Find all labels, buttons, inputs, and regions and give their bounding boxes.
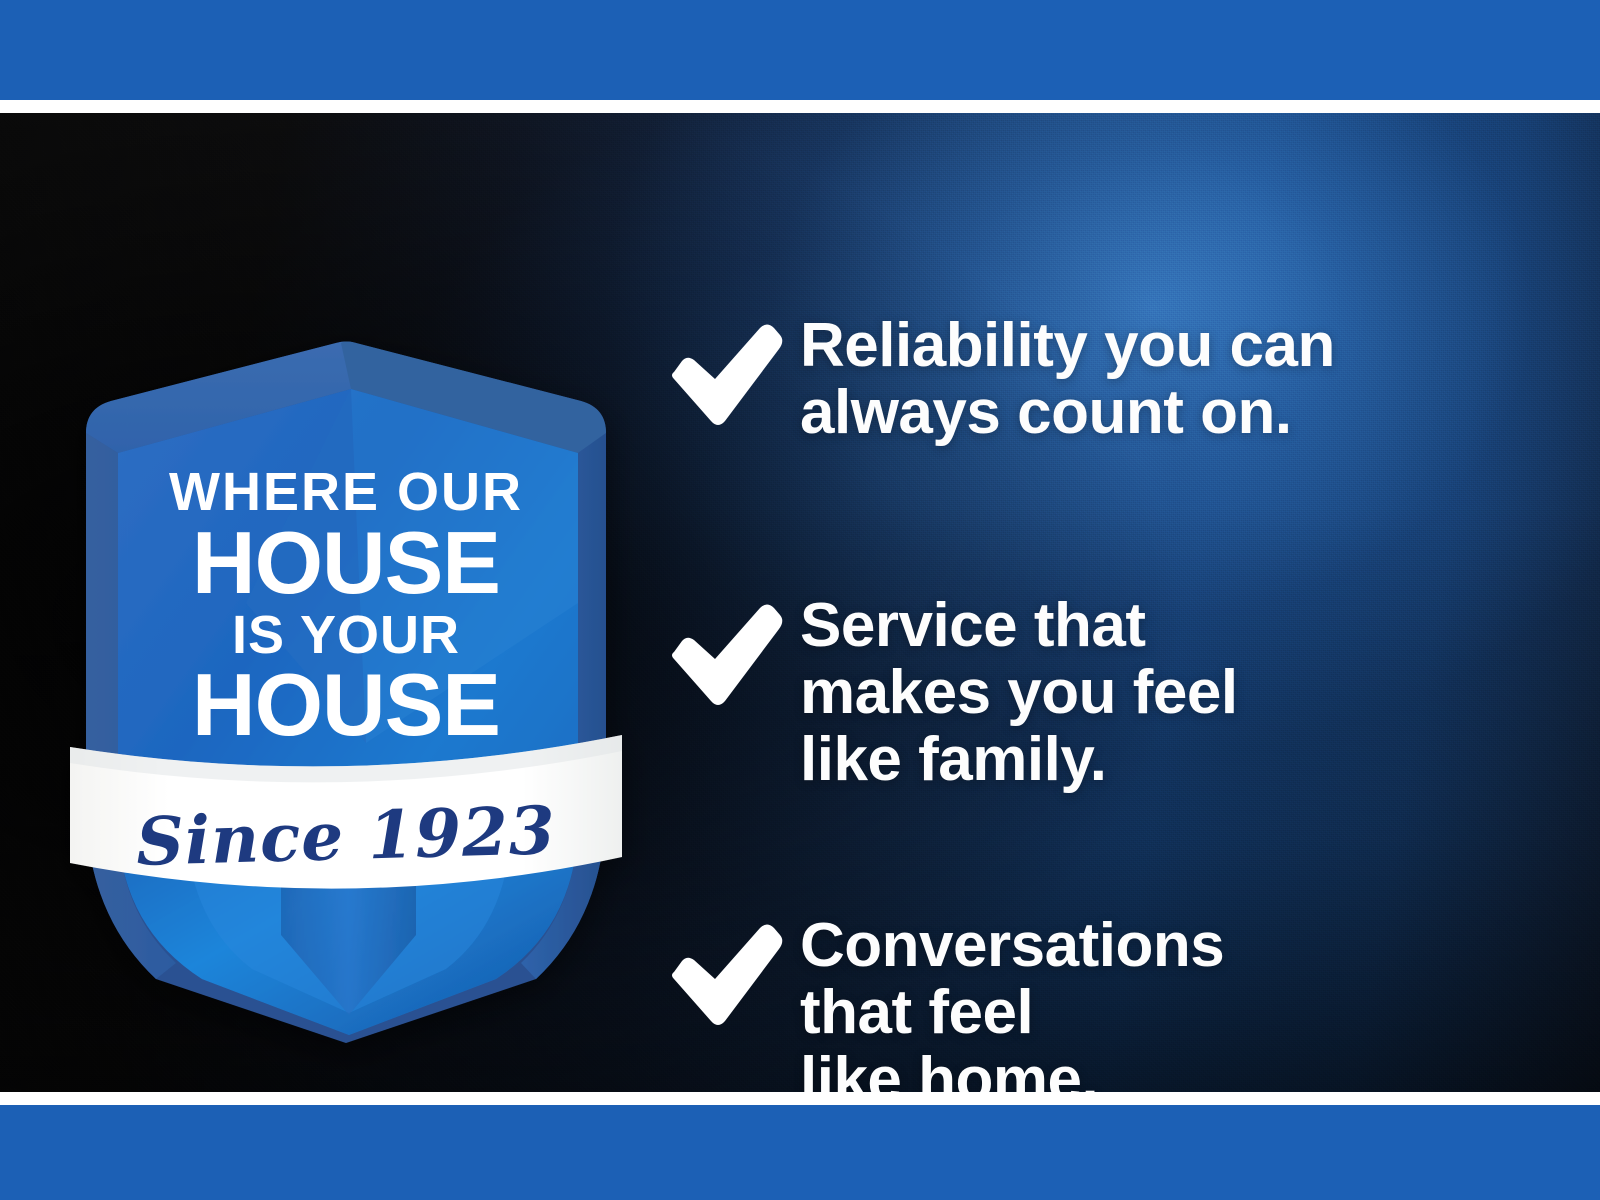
benefit-item-reliability: Reliability you can always count on. [668, 313, 1335, 447]
top-accent-bar [0, 0, 1600, 100]
benefit-text-conversations: Conversations that feel like home. [800, 913, 1224, 1092]
shield-badge: WHERE OUR HOUSE IS YOUR HOUSE Since 1923 [66, 273, 626, 1043]
bottom-accent-bar [0, 1105, 1600, 1200]
benefit-text-service: Service that makes you feel like family. [800, 593, 1238, 794]
promo-graphic: WHERE OUR HOUSE IS YOUR HOUSE Since 1923… [0, 0, 1600, 1200]
bottom-divider-stripe [0, 1092, 1600, 1105]
checkmark-icon [668, 923, 800, 1027]
checkmark-icon [668, 323, 800, 427]
benefit-item-conversations: Conversations that feel like home. [668, 913, 1224, 1092]
checkmark-icon [668, 603, 800, 707]
benefit-text-reliability: Reliability you can always count on. [800, 313, 1335, 447]
main-panel: WHERE OUR HOUSE IS YOUR HOUSE Since 1923… [0, 113, 1600, 1092]
top-divider-stripe [0, 100, 1600, 113]
benefit-item-service: Service that makes you feel like family. [668, 593, 1238, 794]
